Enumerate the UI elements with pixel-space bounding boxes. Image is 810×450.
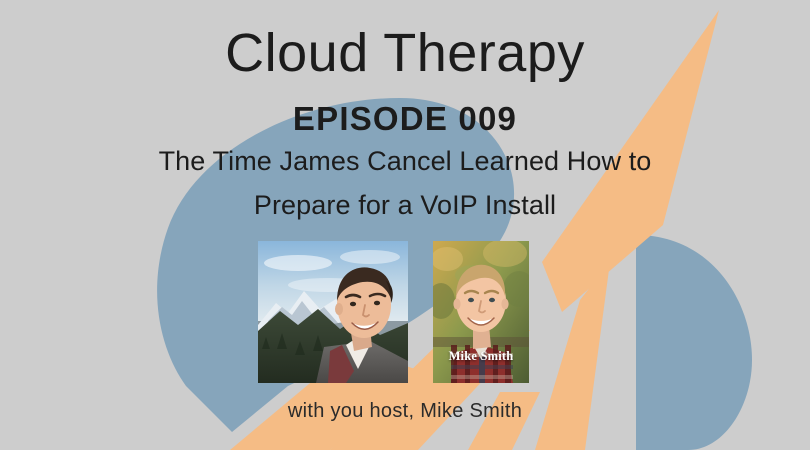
episode-number-label: EPISODE 009 bbox=[0, 100, 810, 138]
guest-portrait-photo bbox=[258, 241, 408, 383]
podcast-episode-cover: Mike Smith Cloud Therapy EPISODE 009 The… bbox=[0, 0, 810, 450]
episode-subtitle-line-1: The Time James Cancel Learned How to bbox=[0, 146, 810, 177]
host-credit-label: with you host, Mike Smith bbox=[0, 400, 810, 423]
host-portrait-photo: Mike Smith bbox=[433, 241, 529, 383]
guest-portrait-illustration bbox=[258, 241, 408, 383]
page-title: Cloud Therapy bbox=[0, 25, 810, 82]
host-portrait-illustration bbox=[433, 241, 529, 383]
episode-subtitle-line-2: Prepare for a VoIP Install bbox=[0, 190, 810, 221]
